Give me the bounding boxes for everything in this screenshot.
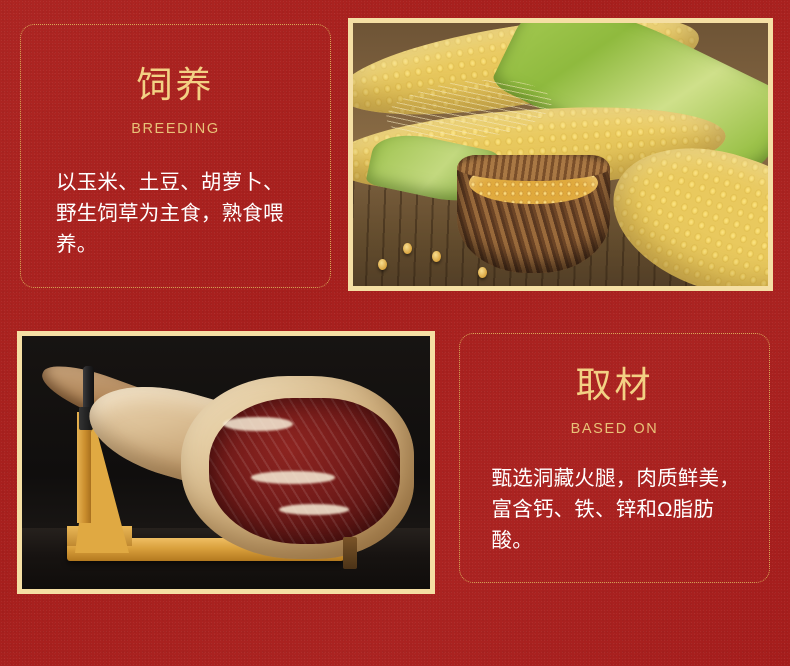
ham-scene <box>22 336 430 589</box>
product-detail-page: 饲养 BREEDING 以玉米、土豆、胡萝卜、野生饲草为主食，熟食喂养。 <box>0 0 790 666</box>
photo-corn <box>348 18 773 291</box>
card-subtitle-based-on: BASED ON <box>571 421 659 437</box>
card-title-based-on: 取材 <box>575 367 653 403</box>
card-subtitle-breeding: BREEDING <box>131 121 220 137</box>
loose-corn-kernel <box>478 267 487 278</box>
ham-fat-marbling <box>251 471 335 484</box>
photo-corn-inner <box>353 23 768 286</box>
info-card-based-on: 取材 BASED ON 甄选洞藏火腿，肉质鲜美，富含钙、铁、锌和Ω脂肪酸。 <box>459 333 770 583</box>
card-body-breeding: 以玉米、土豆、胡萝卜、野生饲草为主食，熟食喂养。 <box>56 167 303 260</box>
info-card-breeding: 饲养 BREEDING 以玉米、土豆、胡萝卜、野生饲草为主食，熟食喂养。 <box>20 24 331 288</box>
card-body-based-on: 甄选洞藏火腿，肉质鲜美，富含钙、铁、锌和Ω脂肪酸。 <box>492 463 744 556</box>
wicker-basket <box>457 155 611 273</box>
ham-body <box>181 376 414 558</box>
photo-ham <box>17 331 435 594</box>
corn-scene <box>353 23 768 286</box>
card-title-breeding: 饲养 <box>136 67 214 103</box>
photo-ham-inner <box>22 336 430 589</box>
ham-fat-marbling <box>223 417 293 432</box>
ham-stand-spike <box>343 537 357 569</box>
ham-fat-marbling <box>279 504 349 515</box>
basket-rim <box>457 155 611 181</box>
